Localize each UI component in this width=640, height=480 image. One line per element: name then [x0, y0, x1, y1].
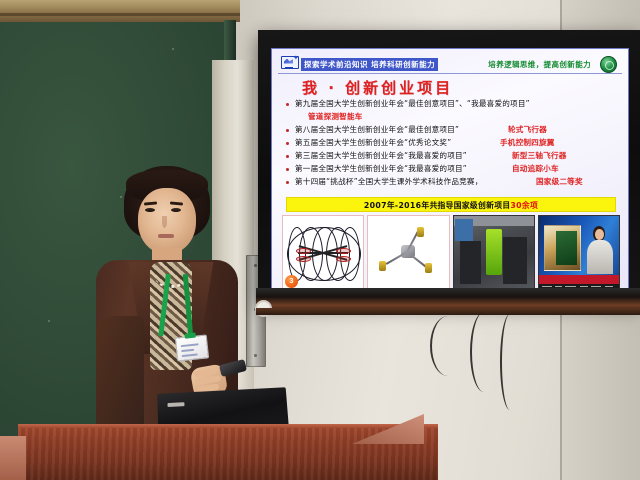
- list-item: 第十四届“挑战杯”全国大学生课外学术科技作品竞赛， 国家级二等奖: [286, 176, 620, 189]
- bullet-dot: [286, 129, 289, 132]
- presentation-slide: ✦ 探索学术前沿知识 培养科研创新能力 培养逻辑思维，提高创新能力 我 · 创新…: [271, 48, 629, 298]
- hanging-cable: [500, 314, 520, 410]
- bullet-tag: 自动追踪小车: [512, 163, 559, 174]
- computer-monitor-icon: ✦: [281, 56, 298, 71]
- hanging-cable: [470, 312, 498, 392]
- gallery-photo-trirotor: [367, 215, 449, 291]
- classroom-scene: ✦ 探索学术前沿知识 培养科研创新能力 培养逻辑思维，提高创新能力 我 · 创新…: [0, 0, 640, 480]
- presenter-face: [138, 188, 196, 254]
- bullet-text: 第一届全国大学生创新创业年会“我最喜爱的项目”: [295, 163, 467, 174]
- display-tray: [256, 308, 640, 315]
- presenter-mouth: [158, 234, 174, 238]
- slide-org-text: 探索学术前沿知识 培养科研创新能力: [301, 58, 438, 71]
- bullet-text: 第五届全国大学生创新创业年会“优秀论文奖”: [295, 137, 451, 148]
- banner-highlight: 30余项: [510, 201, 538, 210]
- bullet-text: 第八届全国大学生创新创业年会“最佳创意项目”: [295, 124, 459, 135]
- presenter-eye: [171, 208, 181, 212]
- banner-text: 2007年-2016年共指导国家级创新项目: [364, 201, 511, 210]
- gallery-photo-lab: [453, 215, 535, 291]
- bullet-text: 第九届全国大学生创新创业年会“最佳创意项目”、“我最喜爱的项目”: [295, 98, 530, 109]
- lectern-side-panel: [0, 436, 26, 480]
- caged-drone-illustration: [286, 225, 360, 281]
- bullet-text: 第三届全国大学生创新创业年会“我最喜爱的项目”: [295, 150, 467, 161]
- bullet-tag: 新型三轴飞行器: [512, 150, 567, 161]
- slide-header: ✦ 探索学术前沿知识 培养科研创新能力 培养逻辑思维，提高创新能力: [279, 55, 621, 75]
- tri-rotor-illustration: [377, 229, 439, 277]
- gallery-photo-news: [538, 215, 620, 291]
- presenter-nose: [162, 216, 167, 228]
- list-item: 第八届全国大学生创新创业年会“最佳创意项目” 轮式飞行器: [286, 124, 620, 137]
- display-bottom-bezel: [256, 288, 640, 310]
- hanging-cable: [430, 316, 466, 376]
- list-item: 第九届全国大学生创新创业年会“最佳创意项目”、“我最喜爱的项目”: [286, 98, 620, 111]
- bullet-dot: [286, 181, 289, 184]
- bullet-tag: 轮式飞行器: [508, 124, 547, 135]
- bullet-dot: [286, 168, 289, 171]
- bullet-dot: [286, 155, 289, 158]
- bullet-subtext: 管道探测智能车: [308, 111, 363, 122]
- wall-display[interactable]: ✦ 探索学术前沿知识 培养科研创新能力 培养逻辑思维，提高创新能力 我 · 创新…: [258, 30, 640, 302]
- gallery-photo-drone: 3: [282, 215, 364, 291]
- laptop-logo: [167, 402, 184, 407]
- slide-title: 我 · 创新创业项目: [302, 77, 453, 98]
- list-item: 第五届全国大学生创新创业年会“优秀论文奖” 手机控制四旋翼: [286, 137, 620, 150]
- id-badge: [175, 334, 209, 361]
- slide-highlight-banner: 2007年-2016年共指导国家级创新项目30余项: [286, 197, 616, 212]
- bullet-dot: [286, 142, 289, 145]
- university-seal-icon: [600, 56, 617, 73]
- list-item: 第一届全国大学生创新创业年会“我最喜爱的项目” 自动追踪小车: [286, 163, 620, 176]
- slide-image-strip: 3: [282, 215, 620, 291]
- slide-motto-text: 培养逻辑思维，提高创新能力: [488, 59, 591, 70]
- presenter-eye: [145, 208, 155, 212]
- bullet-tag: 国家级二等奖: [536, 176, 583, 187]
- list-item-sub: 管道探测智能车: [286, 111, 620, 124]
- bullet-text: 第十四届“挑战杯”全国大学生课外学术科技作品竞赛，: [295, 176, 483, 187]
- slide-bullet-list: 第九届全国大学生创新创业年会“最佳创意项目”、“我最喜爱的项目” 管道探测智能车…: [286, 98, 620, 189]
- bullet-dot: [286, 103, 289, 106]
- bullet-tag: 手机控制四旋翼: [500, 137, 555, 148]
- list-item: 第三届全国大学生创新创业年会“我最喜爱的项目” 新型三轴飞行器: [286, 150, 620, 163]
- pearl-necklace: [156, 270, 186, 288]
- photo-number-badge: 3: [285, 275, 298, 288]
- blackboard-frame: [0, 0, 240, 22]
- slide-header-rule: [278, 73, 622, 74]
